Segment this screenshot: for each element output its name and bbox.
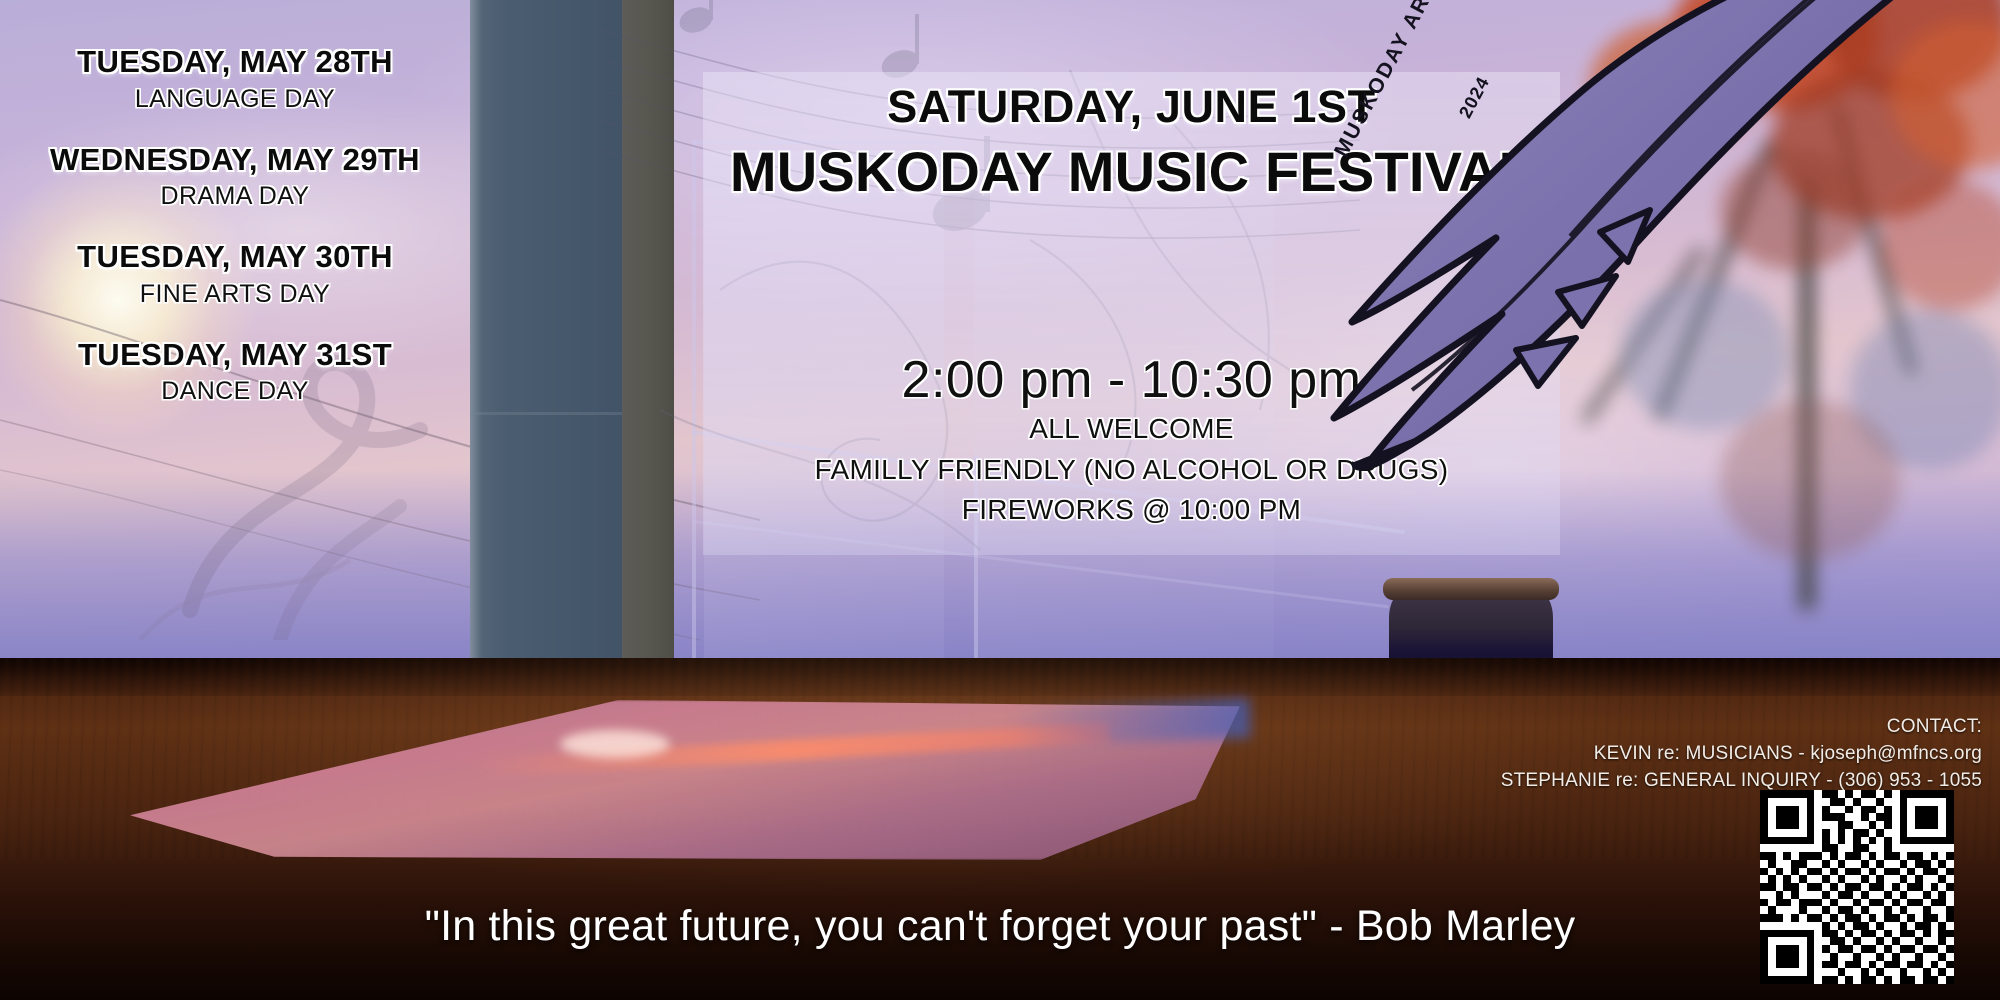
bob-marley-quote: "In this great future, you can't forget … xyxy=(0,902,2000,951)
painting-sun xyxy=(560,730,670,758)
schedule-item-date: TUESDAY, MAY 30TH xyxy=(0,239,470,276)
schedule-item-label: FINE ARTS DAY xyxy=(0,279,470,309)
quill-feather-illustration xyxy=(1130,0,2000,550)
schedule-item-label: DANCE DAY xyxy=(0,376,470,406)
schedule-list: TUESDAY, MAY 28TH LANGUAGE DAY WEDNESDAY… xyxy=(0,44,470,434)
painting-blue-corner xyxy=(1009,698,1250,746)
schedule-item: TUESDAY, MAY 30TH FINE ARTS DAY xyxy=(0,239,470,309)
qr-code[interactable] xyxy=(1760,790,1954,984)
contact-heading: CONTACT: xyxy=(1501,714,1982,741)
schedule-item-label: LANGUAGE DAY xyxy=(0,84,470,114)
schedule-item: TUESDAY, MAY 28TH LANGUAGE DAY xyxy=(0,44,470,114)
contact-musicians-line[interactable]: KEVIN re: MUSICIANS - kjoseph@mfncs.org xyxy=(1501,741,1982,768)
schedule-item-date: TUESDAY, MAY 28TH xyxy=(0,44,470,81)
schedule-item: WEDNESDAY, MAY 29TH DRAMA DAY xyxy=(0,142,470,212)
festival-poster: TUESDAY, MAY 28TH LANGUAGE DAY WEDNESDAY… xyxy=(0,0,2000,1000)
pillar-highlight xyxy=(470,0,482,660)
schedule-item-date: WEDNESDAY, MAY 29TH xyxy=(0,142,470,179)
schedule-item-date: TUESDAY, MAY 31ST xyxy=(0,337,470,374)
schedule-item-label: DRAMA DAY xyxy=(0,181,470,211)
contact-block: CONTACT: KEVIN re: MUSICIANS - kjoseph@m… xyxy=(1501,714,1982,795)
schedule-item: TUESDAY, MAY 31ST DANCE DAY xyxy=(0,337,470,407)
inkwell-lip xyxy=(1383,578,1559,600)
